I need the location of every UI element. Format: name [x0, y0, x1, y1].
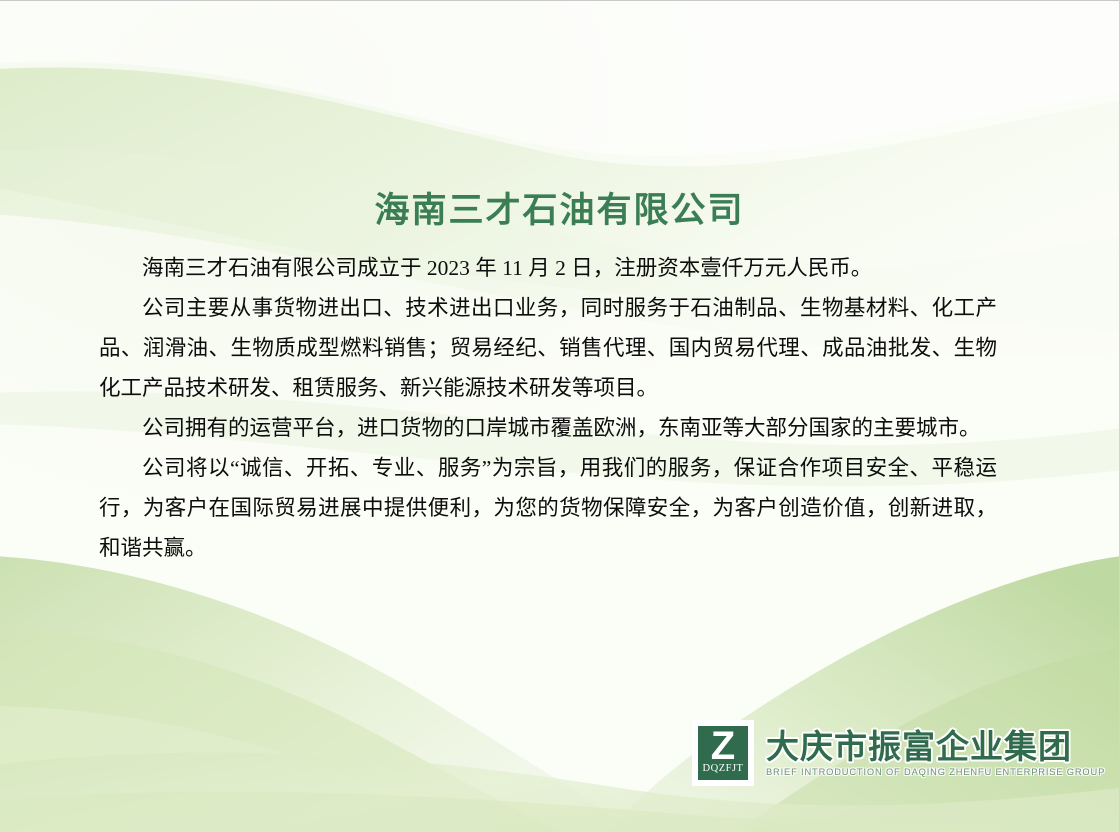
paragraph: 海南三才石油有限公司成立于 2023 年 11 月 2 日，注册资本壹仟万元人民… [99, 248, 997, 288]
logo-abbreviation: DQZFJT [703, 763, 744, 774]
logo-letter-z: Z [711, 730, 735, 763]
presentation-slide: 海南三才石油有限公司 海南三才石油有限公司成立于 2023 年 11 月 2 日… [0, 0, 1119, 832]
page-title: 海南三才石油有限公司 [0, 182, 1119, 233]
logo-mark-inner: Z DQZFJT [695, 723, 751, 783]
paragraph: 公司拥有的运营平台，进口货物的口岸城市覆盖欧洲，东南亚等大部分国家的主要城市。 [99, 408, 997, 448]
paragraph: 公司主要从事货物进出口、技术进出口业务，同时服务于石油制品、生物基材料、化工产品… [99, 288, 997, 408]
paragraph: 公司将以“诚信、开拓、专业、服务”为宗旨，用我们的服务，保证合作项目安全、平稳运… [99, 448, 997, 568]
body-copy: 海南三才石油有限公司成立于 2023 年 11 月 2 日，注册资本壹仟万元人民… [99, 248, 997, 568]
company-logo-lockup: Z DQZFJT 大庆市振富企业集团 BRIEF INTRODUCTION OF… [692, 720, 1105, 786]
logo-company-name-cn: 大庆市振富企业集团 [766, 729, 1105, 765]
logo-text-block: 大庆市振富企业集团 BRIEF INTRODUCTION OF DAQING Z… [766, 729, 1105, 777]
logo-mark-icon: Z DQZFJT [692, 720, 754, 786]
logo-tagline-en: BRIEF INTRODUCTION OF DAQING ZHENFU ENTE… [766, 767, 1105, 777]
